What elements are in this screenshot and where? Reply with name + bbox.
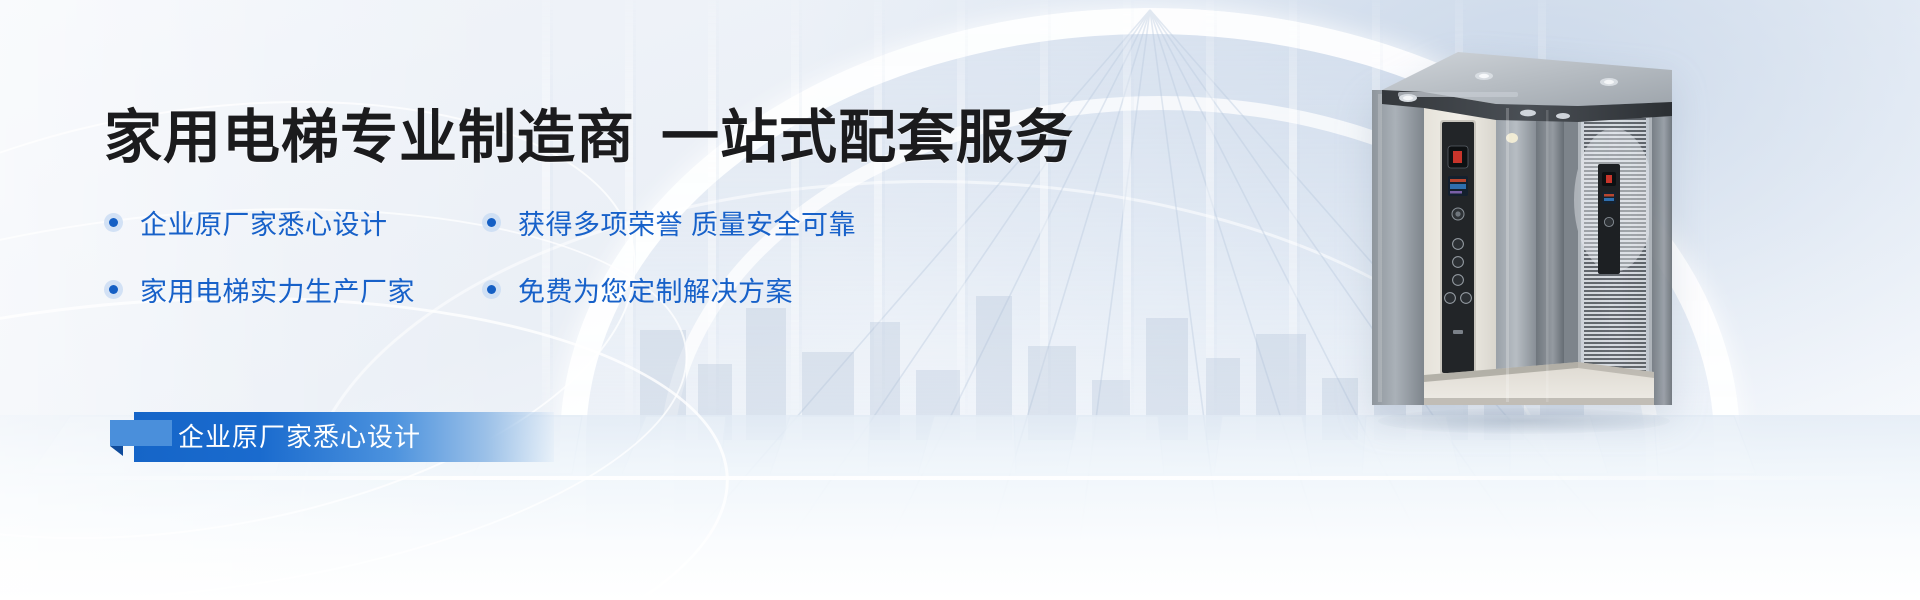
ribbon-label: 企业原厂家悉心设计 bbox=[178, 412, 421, 462]
bullet-label: 企业原厂家悉心设计 bbox=[140, 203, 388, 242]
ribbon-fold-corner-icon bbox=[110, 446, 123, 456]
bullet-dot-icon bbox=[104, 280, 123, 299]
bullet-label: 免费为您定制解决方案 bbox=[518, 270, 793, 309]
promo-copy-block: 家用电梯专业制造商一站式配套服务 企业原厂家悉心设计 获得多项荣誉 质量安全可靠… bbox=[104, 108, 1114, 309]
list-item: 获得多项荣誉 质量安全可靠 bbox=[482, 203, 1114, 242]
bullet-dot-icon bbox=[482, 280, 501, 299]
page-title: 家用电梯专业制造商一站式配套服务 bbox=[104, 108, 1114, 169]
list-item: 家用电梯实力生产厂家 bbox=[104, 270, 474, 309]
list-item: 企业原厂家悉心设计 bbox=[104, 203, 474, 242]
headline-part-1: 家用电梯专业制造商 bbox=[104, 105, 635, 170]
ribbon-flag-accent bbox=[110, 420, 172, 446]
home-elevator-promo-banner: 家用电梯专业制造商一站式配套服务 企业原厂家悉心设计 获得多项荣誉 质量安全可靠… bbox=[0, 0, 1920, 600]
bullet-label: 获得多项荣誉 质量安全可靠 bbox=[518, 203, 856, 242]
bullet-dot-icon bbox=[482, 213, 501, 232]
list-item: 免费为您定制解决方案 bbox=[482, 270, 1114, 309]
bullet-dot-icon bbox=[104, 213, 123, 232]
bullet-label: 家用电梯实力生产厂家 bbox=[140, 270, 415, 309]
home-elevator-cabin-image bbox=[1372, 42, 1672, 422]
headline-part-2: 一站式配套服务 bbox=[661, 105, 1074, 170]
feature-bullet-list: 企业原厂家悉心设计 获得多项荣誉 质量安全可靠 家用电梯实力生产厂家 免费为您定… bbox=[104, 203, 1114, 309]
